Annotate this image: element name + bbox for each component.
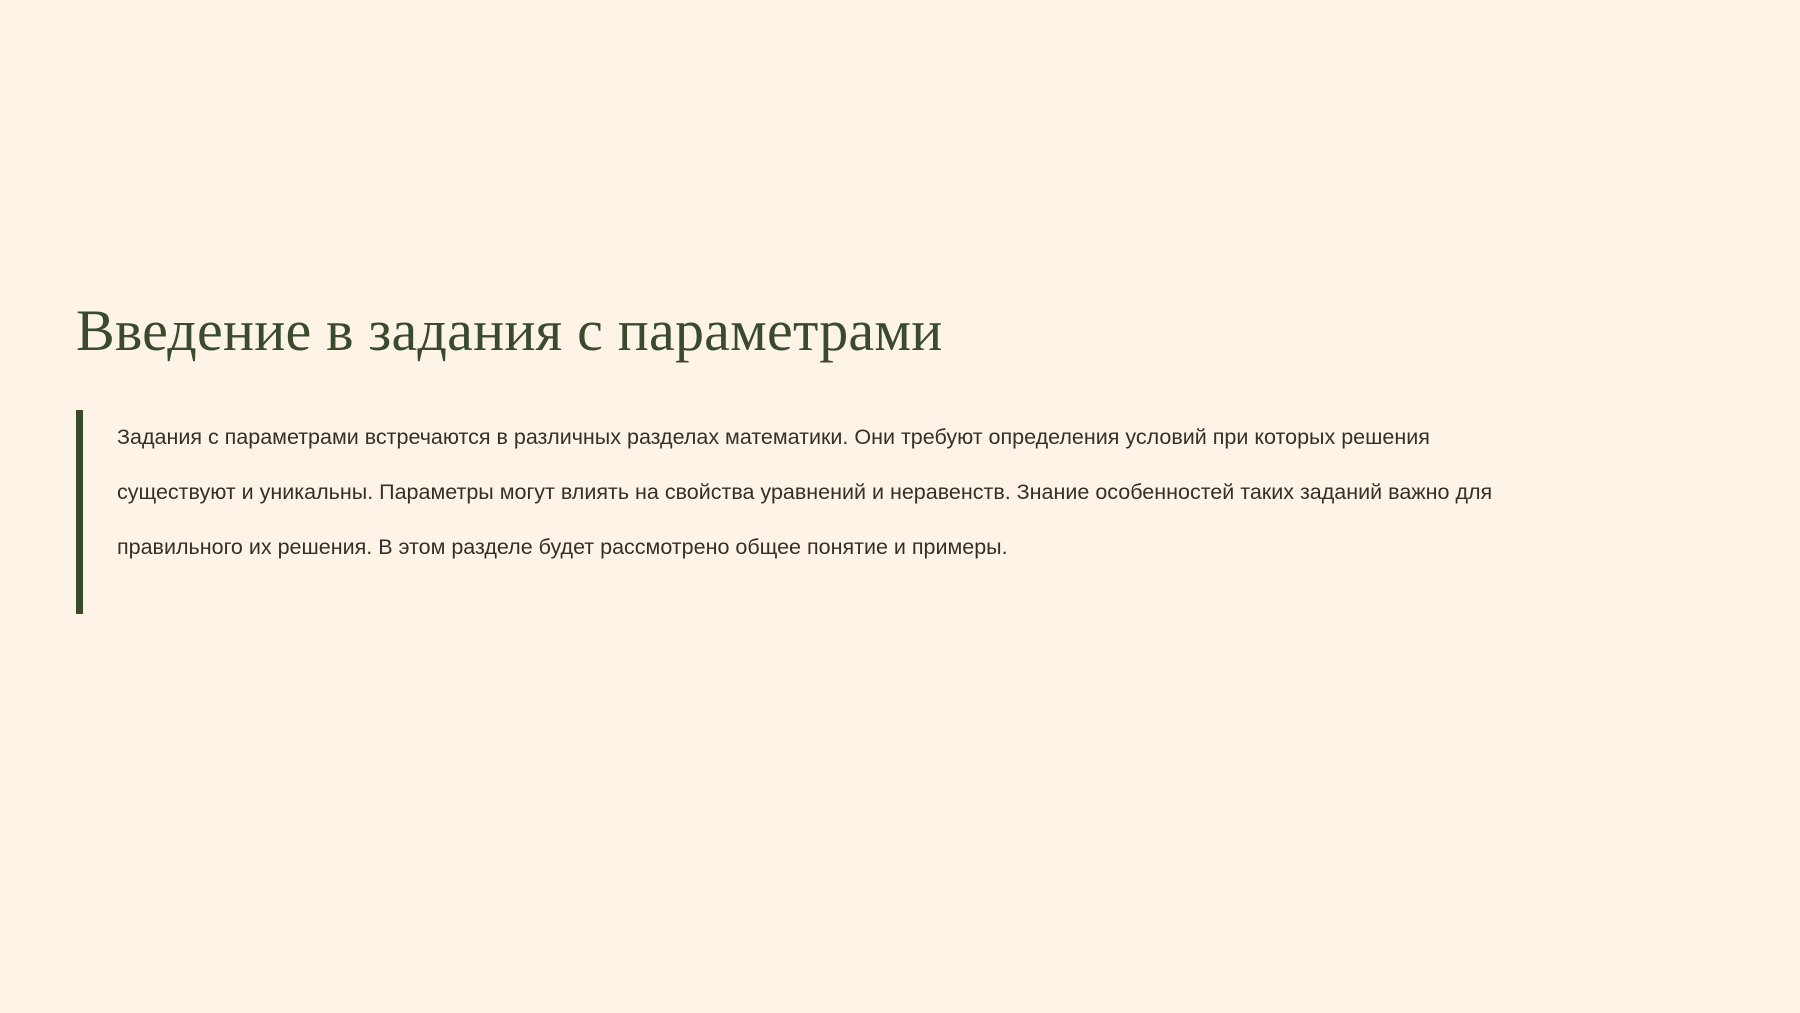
slide-content: Введение в задания с параметрами Задания… xyxy=(76,300,1736,575)
body-paragraph: Задания с параметрами встречаются в разл… xyxy=(117,410,1537,575)
callout-block: Задания с параметрами встречаются в разл… xyxy=(76,410,1736,575)
accent-bar xyxy=(76,410,83,614)
slide-canvas: Введение в задания с параметрами Задания… xyxy=(0,0,1800,1013)
page-title: Введение в задания с параметрами xyxy=(76,300,1736,363)
